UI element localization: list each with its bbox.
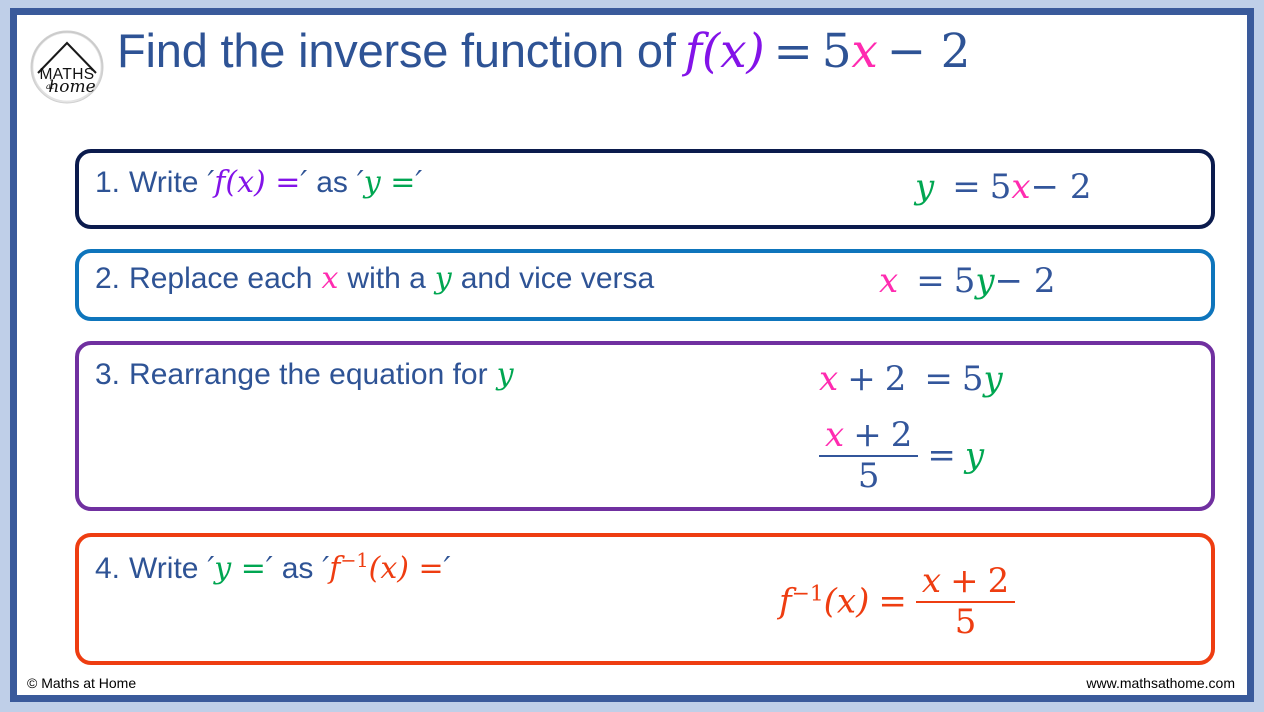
step-3-label: 3.Rearrange the equation fory: [95, 357, 514, 392]
step-box-3: 3.Rearrange the equation fory x+2=5y x+2…: [75, 341, 1215, 511]
step-4-quoted-to-arg: (x) =: [369, 551, 444, 586]
step-3-l2-relation: =: [927, 436, 956, 476]
step-3-fraction-denominator: 5: [819, 457, 918, 495]
title-function: f(x): [685, 24, 765, 79]
slide-footer: © Maths at Home www.mathsathome.com: [17, 667, 1247, 693]
step-2-eq-tail: − 2: [995, 261, 1056, 301]
step-2-verb: Replace each: [129, 262, 312, 295]
step-4-quoted-to-base: f: [329, 551, 340, 586]
step-3-l1-lhs-op: +: [847, 359, 876, 399]
step-3-var: y: [497, 357, 514, 392]
step-2-middle: with a: [347, 262, 425, 295]
step-4-eq-relation: =: [878, 582, 907, 622]
step-3-l1-lhs-const: 2: [885, 359, 907, 399]
step-1-verb: Write: [129, 166, 198, 199]
step-3-num-variable: x: [825, 415, 844, 455]
step-2-eq-relation: =: [916, 261, 945, 301]
logo-home-text: home: [48, 77, 95, 97]
title-variable: x: [851, 24, 877, 79]
step-1-label: 1.Write′f(x) =′as′y =′: [95, 165, 422, 200]
step-4-fraction: x+2 5: [916, 563, 1015, 640]
slide-content: MATHS at home Find the inverse function …: [17, 15, 1247, 695]
page-title: Find the inverse function off(x)=5x− 2: [117, 23, 970, 79]
step-3-l1-relation: =: [924, 359, 953, 399]
step-1-equation: y=5x− 2: [915, 167, 1091, 207]
step-3-fraction-numerator: x+2: [819, 417, 918, 457]
step-3-verb: Rearrange the equation for: [129, 358, 488, 391]
step-box-1: 1.Write′f(x) =′as′y =′ y=5x− 2: [75, 149, 1215, 229]
step-2-eq-coefficient: 5: [954, 261, 976, 301]
step-2-tail: and vice versa: [461, 262, 654, 295]
title-tail: − 2: [887, 24, 971, 79]
title-coefficient: 5: [822, 24, 852, 79]
step-4-fraction-denominator: 5: [916, 603, 1015, 641]
slide-frame: MATHS at home Find the inverse function …: [10, 8, 1254, 702]
step-4-equation: f−1(x)= x+2 5: [779, 565, 1015, 642]
step-box-4: 4.Write′y =′as′f−1(x) =′ f−1(x)= x+2 5: [75, 533, 1215, 665]
step-1-quoted-from: f(x) =: [214, 165, 300, 200]
website-text[interactable]: www.mathsathome.com: [1086, 675, 1235, 691]
step-4-eq-base: f: [779, 582, 792, 622]
title-equals: =: [774, 24, 813, 79]
step-1-eq-coefficient: 5: [990, 167, 1012, 207]
step-3-l1-variable: y: [983, 359, 1002, 399]
step-4-num-variable: x: [922, 561, 941, 601]
step-1-number: 1.: [95, 166, 120, 199]
step-3-num-op: +: [853, 415, 882, 455]
step-4-num-op: +: [950, 561, 979, 601]
step-4-eq-exponent: −1: [792, 581, 824, 606]
step-1-eq-variable: x: [1011, 167, 1030, 207]
step-3-equation-line-2: x+2 5 =y: [819, 419, 984, 496]
step-2-var-b: y: [435, 261, 452, 296]
step-4-quoted-to-exponent: −1: [340, 549, 368, 572]
step-2-equation: x=5y− 2: [879, 261, 1055, 301]
step-3-fraction: x+2 5: [819, 417, 918, 494]
step-3-equation-line-1: x+2=5y: [819, 359, 1003, 399]
step-box-2: 2.Replace eachxwith ayand vice versa x=5…: [75, 249, 1215, 321]
step-2-eq-variable: y: [975, 261, 994, 301]
maths-at-home-logo: MATHS at home: [29, 29, 105, 105]
step-3-num-const: 2: [891, 415, 913, 455]
step-4-verb: Write: [129, 552, 198, 585]
step-4-quoted-from: y =: [214, 551, 266, 586]
step-1-connector: as: [316, 166, 348, 199]
slide-header: MATHS at home Find the inverse function …: [17, 17, 1247, 109]
step-4-label: 4.Write′y =′as′f−1(x) =′: [95, 549, 450, 586]
step-2-number: 2.: [95, 262, 120, 295]
step-2-label: 2.Replace eachxwith ayand vice versa: [95, 261, 654, 296]
step-1-eq-tail: − 2: [1031, 167, 1092, 207]
step-4-connector: as: [282, 552, 314, 585]
step-3-l1-lhs-variable: x: [819, 359, 838, 399]
step-4-num-const: 2: [988, 561, 1010, 601]
copyright-text: © Maths at Home: [27, 675, 136, 691]
step-3-l1-coefficient: 5: [962, 359, 984, 399]
step-4-number: 4.: [95, 552, 120, 585]
step-4-eq-arg: (x): [824, 582, 870, 622]
step-1-eq-lhs: y: [915, 167, 934, 207]
step-2-var-a: x: [322, 261, 339, 296]
step-1-eq-relation: =: [952, 167, 981, 207]
step-3-l2-rhs-variable: y: [965, 436, 984, 476]
step-4-fraction-numerator: x+2: [916, 563, 1015, 603]
step-3-number: 3.: [95, 358, 120, 391]
step-1-quoted-to: y =: [364, 165, 416, 200]
title-prefix: Find the inverse function of: [117, 24, 676, 77]
step-2-eq-lhs: x: [879, 261, 898, 301]
